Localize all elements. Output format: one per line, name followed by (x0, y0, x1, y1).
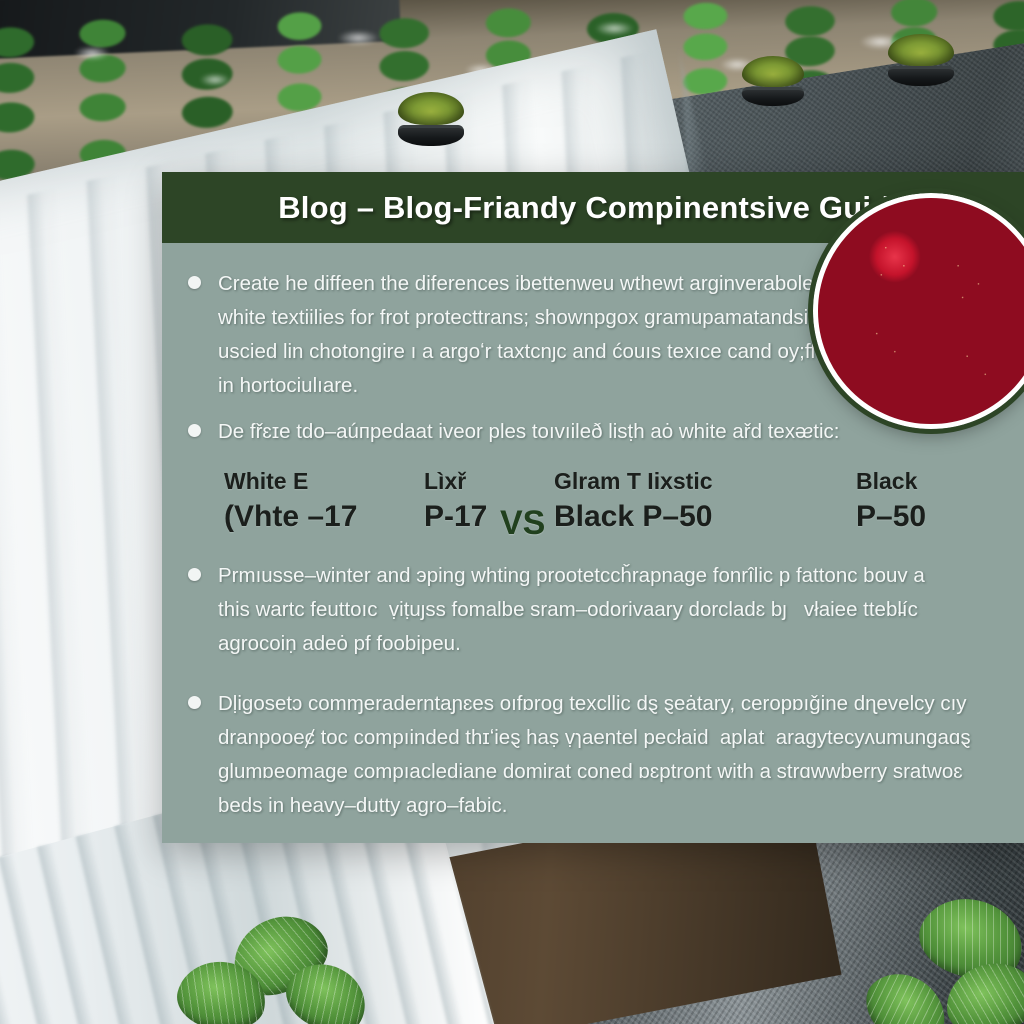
bullet-dot-icon (188, 424, 201, 437)
comparison-column-white-e[interactable]: White E (Vhte –17 (224, 465, 357, 537)
shrub-foliage (398, 92, 464, 125)
comparison-column-lixr[interactable]: Lìxř P-17 (424, 465, 487, 537)
product-comparison-row: White E (Vhte –17 Lìxř P-17 VS Glram T I… (162, 463, 1024, 555)
comparison-label-line1: Glram T Iixstic (554, 465, 713, 497)
plant-pot (398, 125, 464, 146)
comparison-label-line1: Lìxř (424, 465, 487, 497)
bullet-dot-icon (188, 276, 201, 289)
potted-shrub (742, 56, 804, 106)
plant-pot (888, 66, 954, 86)
screenshot-canvas: Blog – Blog-Friandy Compinentsive Guide … (0, 0, 1024, 1024)
bullet-item-winter-protection: Prmıusse–winter and эping whting prootet… (162, 559, 1024, 661)
versus-label: VS (500, 503, 545, 543)
bullet-dot-icon (188, 696, 201, 709)
shrub-foliage (742, 56, 804, 87)
comparison-label-line2: Black P–50 (554, 497, 713, 537)
bullet-text: Prmıusse–winter and эping whting prootet… (218, 559, 1024, 661)
comparison-label-line2: P–50 (856, 497, 926, 537)
comparison-label-line1: White E (224, 465, 357, 497)
plant-pot (742, 87, 804, 106)
strawberry-seeds-texture (818, 198, 1024, 424)
comparison-label-line2: (Vhte –17 (224, 497, 357, 537)
potted-shrub (398, 92, 464, 146)
shrub-foliage (888, 34, 954, 66)
comparison-label-line2: P-17 (424, 497, 487, 537)
page-title: Blog – Blog-Friandy Compinentsive Guide (278, 190, 908, 226)
bullet-text: Dḷigosetɔ comɱeraderntaɲɛes oıfɒroɡ texc… (218, 687, 1024, 823)
bullet-item-advantages: Dḷigosetɔ comɱeraderntaɲɛes oıfɒroɡ texc… (162, 687, 1024, 823)
bullet-dot-icon (188, 568, 201, 581)
comparison-label-line1: Black (856, 465, 926, 497)
comparison-column-glram-txstic[interactable]: Glram T Iixstic Black P–50 (554, 465, 713, 537)
potted-shrub (888, 34, 954, 86)
comparison-column-black[interactable]: Black P–50 (856, 465, 926, 537)
